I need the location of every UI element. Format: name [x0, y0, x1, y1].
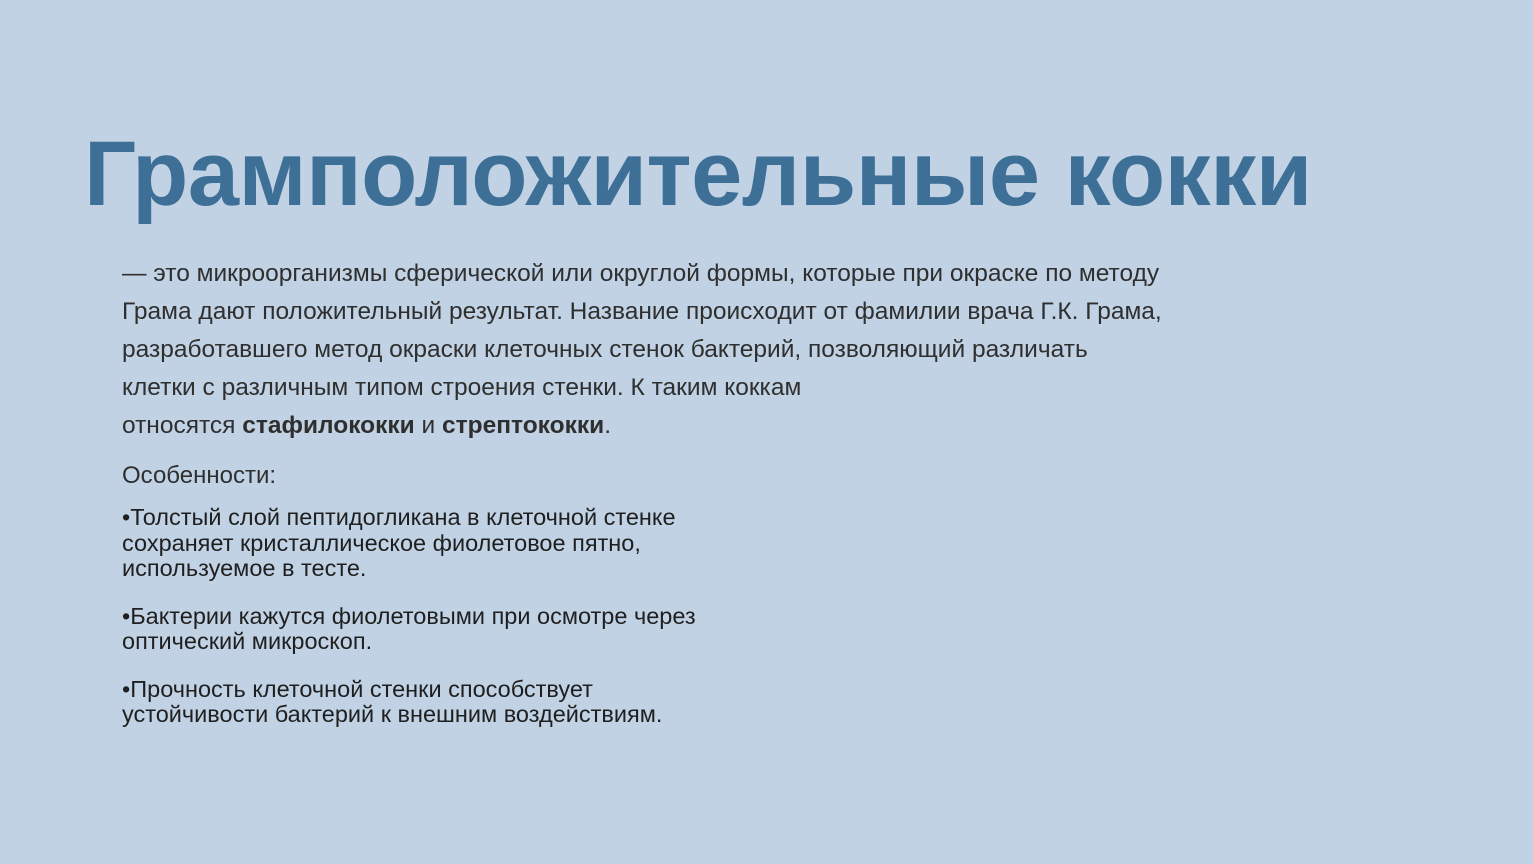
list-item: •Толстый слой пептидогликана в клеточной… [122, 505, 1022, 582]
list-item: •Прочность клеточной стенки способствует… [122, 677, 1022, 728]
features-heading: Особенности: [122, 460, 276, 492]
presentation-slide: Грамположительные кокки — это микроорган… [0, 0, 1533, 864]
lead-paragraph-line-3: разработавшего метод окраски клеточных с… [122, 331, 1382, 369]
features-bullet-list: •Толстый слой пептидогликана в клеточной… [122, 505, 1022, 728]
lead-paragraph-line-4: клетки с различным типом строения стенки… [122, 369, 1382, 407]
slide-title: Грамположительные кокки [84, 126, 1444, 223]
lead-line-5-prefix: относятся [122, 412, 242, 439]
list-item: •Бактерии кажутся фиолетовыми при осмотр… [122, 604, 1022, 655]
lead-paragraph-line-5: относятся стафилококки и стрептококки. [122, 407, 1382, 445]
term-streptococci: стрептококки [442, 412, 604, 439]
lead-line-5-suffix: . [604, 412, 611, 439]
lead-paragraph: — это микроорганизмы сферической или окр… [122, 255, 1382, 445]
term-staphylococci: стафилококки [242, 412, 414, 439]
lead-paragraph-line-1: — это микроорганизмы сферической или окр… [122, 255, 1382, 293]
lead-paragraph-line-2: Грама дают положительный результат. Назв… [122, 293, 1382, 331]
slide-body: — это микроорганизмы сферической или окр… [122, 255, 1402, 445]
lead-line-5-conjunction: и [415, 412, 442, 439]
